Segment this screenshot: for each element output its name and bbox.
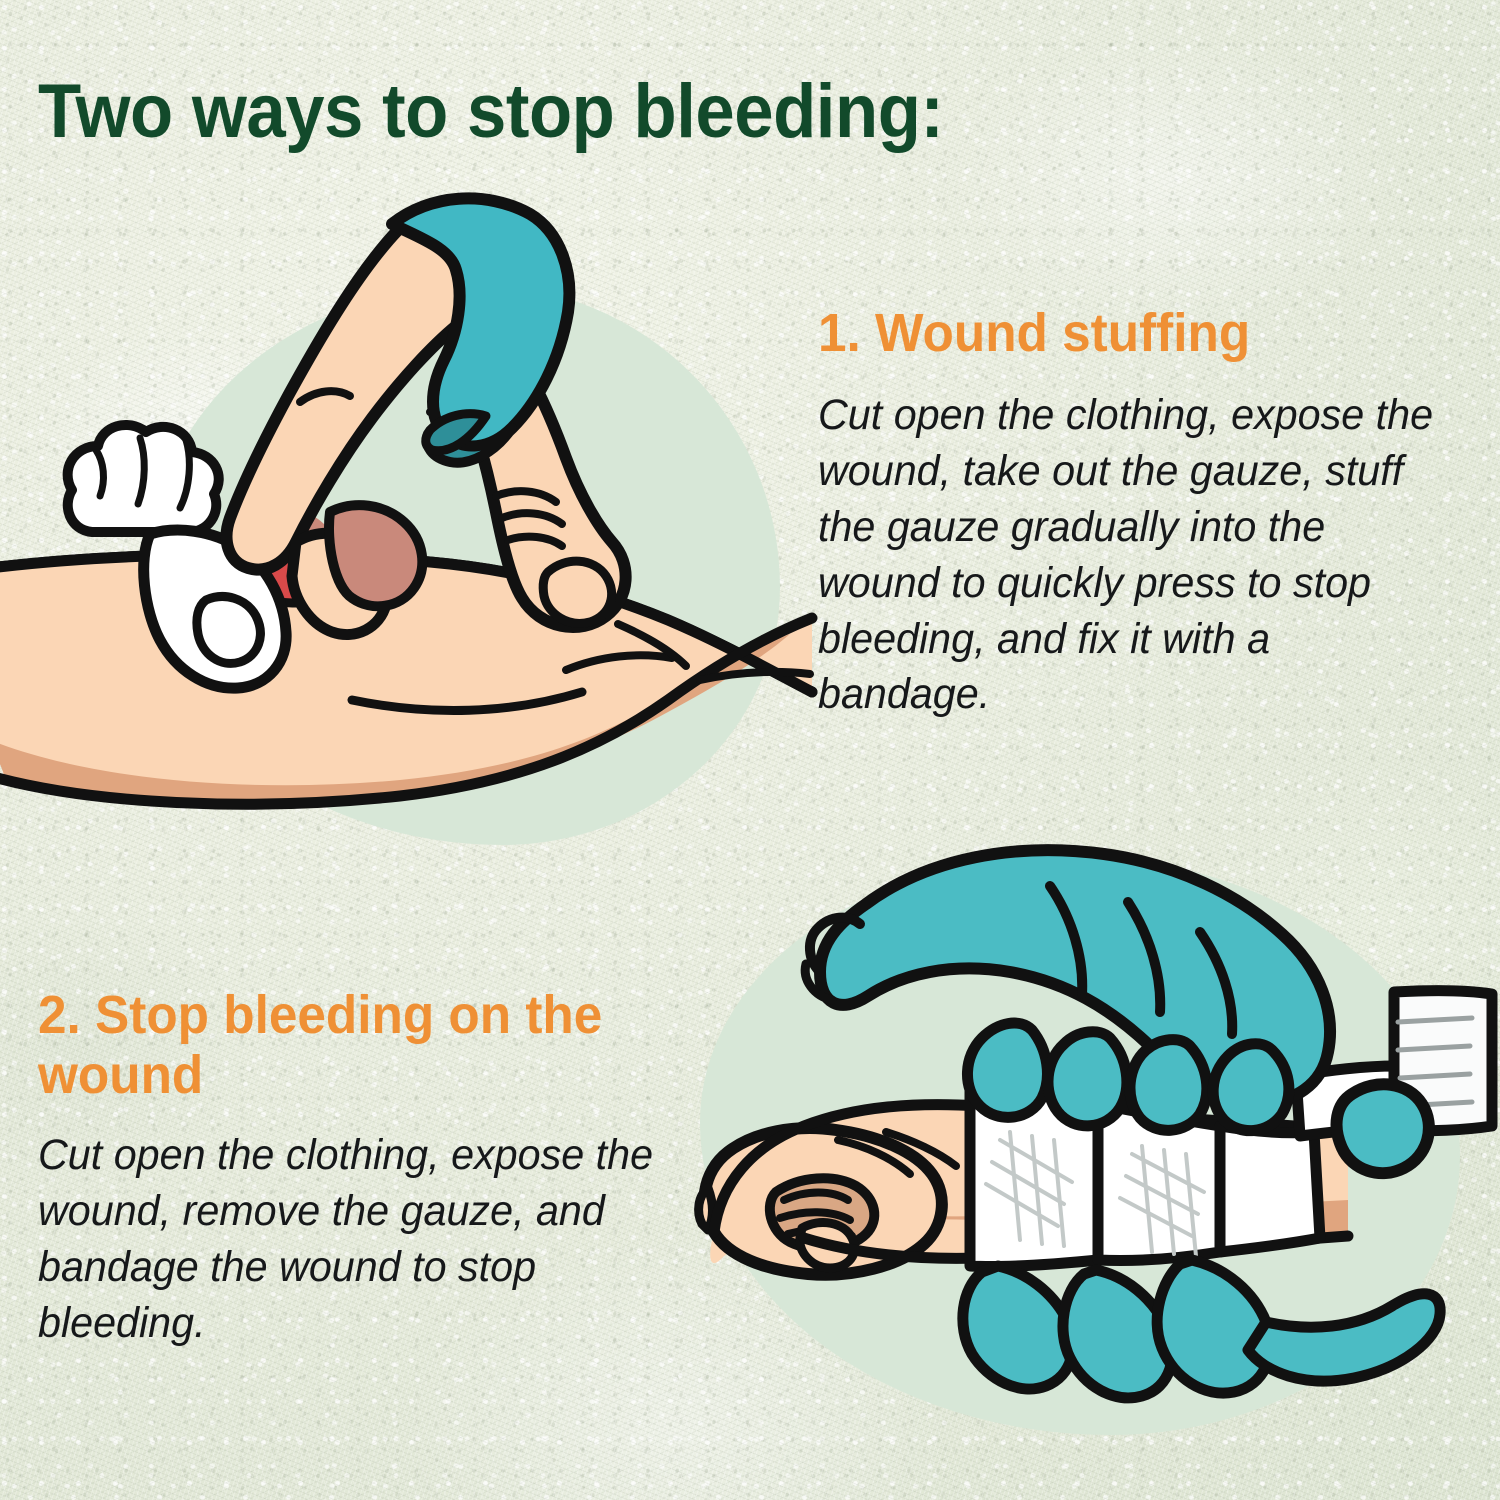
poster-title: Two ways to stop bleeding: — [38, 72, 1154, 152]
step-1-body: Cut open the clothing, expose the wound,… — [818, 388, 1452, 723]
step-2-body: Cut open the clothing, expose the wound,… — [38, 1128, 691, 1352]
infographic-poster: Two ways to stop bleeding: 1. Wound stuf… — [0, 0, 1500, 1500]
step-2-heading: 2. Stop bleeding on the wound — [38, 985, 627, 1106]
bandaging-illustration — [680, 840, 1500, 1480]
step-1-heading: 1. Wound stuffing — [818, 303, 1445, 363]
wound-stuffing-illustration — [0, 200, 820, 880]
